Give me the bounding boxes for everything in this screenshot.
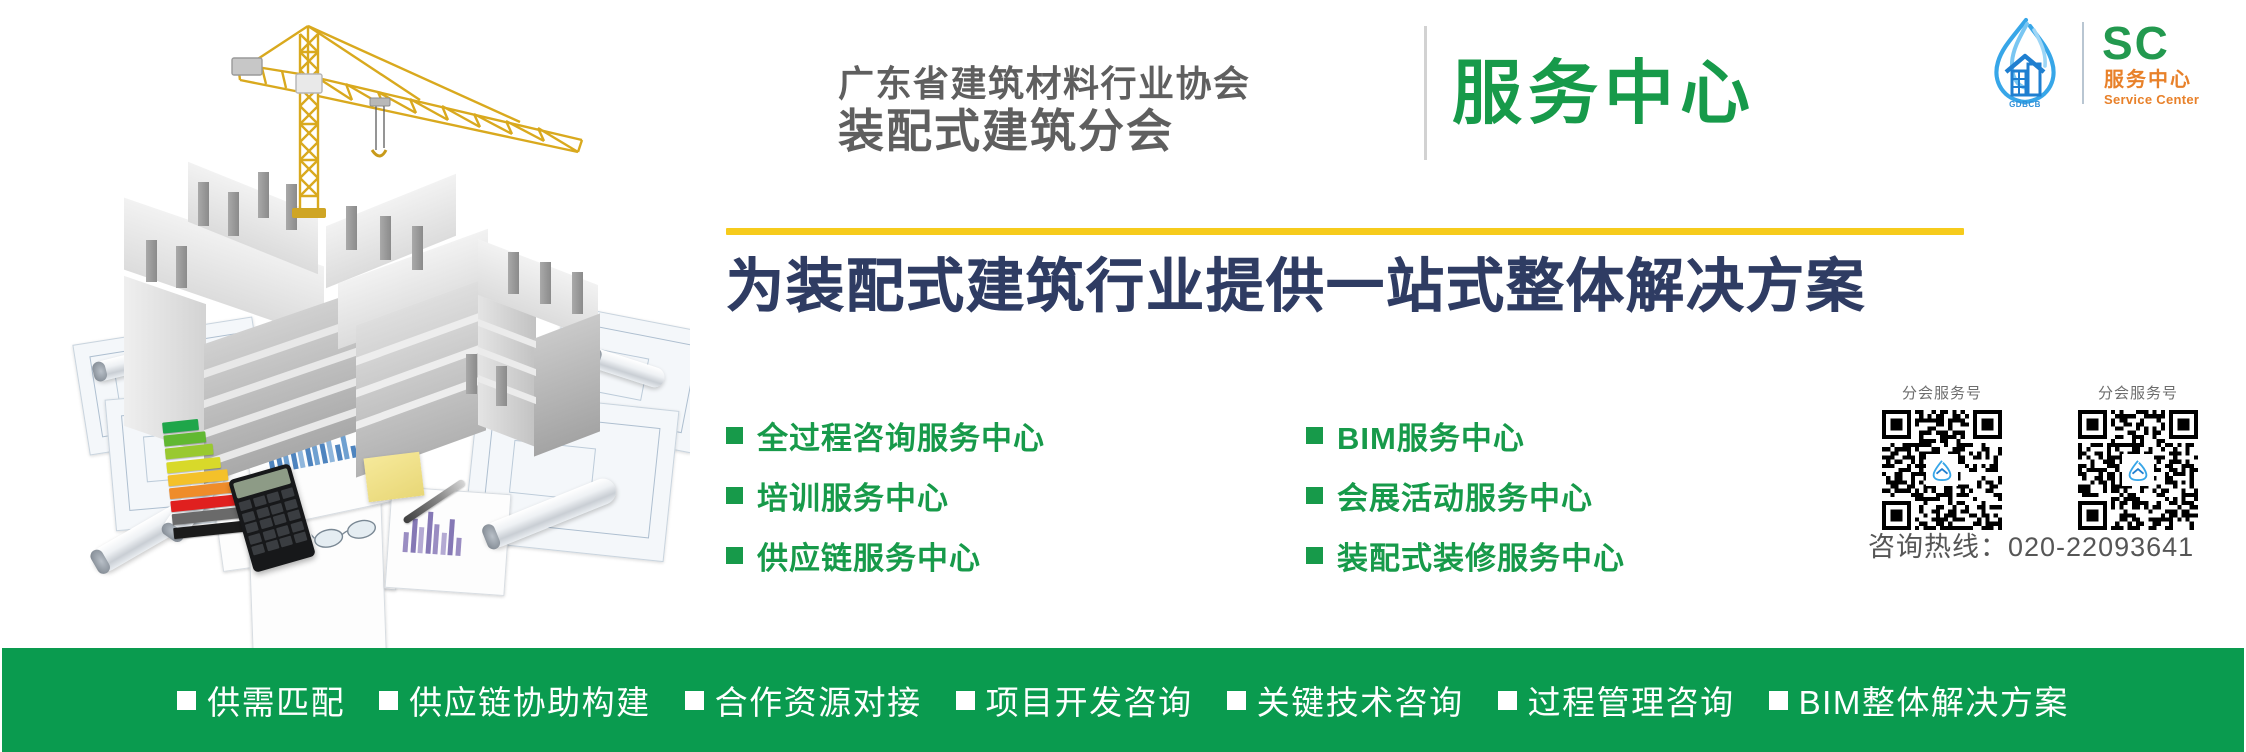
square-bullet-icon <box>726 487 743 504</box>
square-bullet-icon <box>177 691 196 710</box>
capability-tag[interactable]: BIM整体解决方案 <box>1769 676 2069 724</box>
association-name-line1: 广东省建筑材料行业协会 <box>838 66 1418 102</box>
capability-tag[interactable]: 合作资源对接 <box>685 676 922 724</box>
qr-code-block: 分会服务号 <box>1862 382 2022 530</box>
logo-caption: GDBCB <box>1982 100 2068 109</box>
association-name: 广东省建筑材料行业协会 装配式建筑分会 <box>838 66 1418 154</box>
construction-site-illustration <box>0 0 690 648</box>
service-item[interactable]: 培训服务中心 <box>726 465 1045 525</box>
square-bullet-icon <box>1306 427 1323 444</box>
service-item[interactable]: 会展活动服务中心 <box>1306 465 1625 525</box>
service-list-left: 全过程咨询服务中心 培训服务中心 供应链服务中心 <box>726 405 1045 585</box>
square-bullet-icon <box>726 427 743 444</box>
qr-center-logo-icon <box>1926 454 1958 486</box>
capability-tag-label: 合作资源对接 <box>715 676 922 724</box>
sc-chinese-label: 服务中心 <box>2104 70 2192 90</box>
gdbcb-flame-house-logo-icon <box>1982 14 2068 114</box>
service-center-title: 服务中心 <box>1452 58 1756 128</box>
capability-tag-label: 项目开发咨询 <box>986 676 1193 724</box>
sticky-note <box>364 452 425 502</box>
qr-center-logo-icon <box>2122 454 2154 486</box>
capability-tag-label: 供应链协助构建 <box>409 676 651 724</box>
capability-tag-list: 供需匹配 供应链协助构建 合作资源对接 项目开发咨询 关键技术咨询 过程管理咨询 <box>177 676 2069 724</box>
service-item-label: 供应链服务中心 <box>757 533 981 578</box>
service-item[interactable]: BIM服务中心 <box>1306 405 1625 465</box>
capability-tag[interactable]: 供需匹配 <box>177 676 345 724</box>
square-bullet-icon <box>379 691 398 710</box>
qr-code-image[interactable] <box>1882 410 2002 530</box>
qr-caption: 分会服务号 <box>2058 382 2218 403</box>
capability-tag[interactable]: 供应链协助构建 <box>379 676 651 724</box>
service-list-right: BIM服务中心 会展活动服务中心 装配式装修服务中心 <box>1306 405 1625 585</box>
tagline: 为装配式建筑行业提供一站式整体解决方案 <box>726 258 1866 316</box>
square-bullet-icon <box>1306 487 1323 504</box>
bottom-capability-bar: 供需匹配 供应链协助构建 合作资源对接 项目开发咨询 关键技术咨询 过程管理咨询 <box>2 648 2244 752</box>
capability-tag-label: 供需匹配 <box>207 676 345 724</box>
square-bullet-icon <box>956 691 975 710</box>
calculator-keys <box>238 487 307 555</box>
capability-tag[interactable]: 关键技术咨询 <box>1227 676 1464 724</box>
service-item[interactable]: 全过程咨询服务中心 <box>726 405 1045 465</box>
tower-crane-icon <box>0 0 690 648</box>
service-item-label: 全过程咨询服务中心 <box>757 413 1045 458</box>
brand-logo-block: GDBCB SC 服务中心 Service Center <box>1982 14 2228 114</box>
sc-english-label: Service Center <box>2104 93 2199 106</box>
service-item-label: 会展活动服务中心 <box>1337 473 1593 518</box>
service-item-label: BIM服务中心 <box>1337 413 1525 458</box>
square-bullet-icon <box>1227 691 1246 710</box>
capability-tag-label: 过程管理咨询 <box>1528 676 1735 724</box>
capability-tag-label: BIM整体解决方案 <box>1799 676 2069 724</box>
qr-code-block: 分会服务号 <box>2058 382 2218 530</box>
promotional-banner: 广东省建筑材料行业协会 装配式建筑分会 服务中心 为装配式建筑行业提供一站式整体… <box>0 0 2246 752</box>
square-bullet-icon <box>1769 691 1788 710</box>
gold-divider-rule <box>726 228 1964 235</box>
vertical-divider <box>1424 26 1427 160</box>
association-name-line2: 装配式建筑分会 <box>838 108 1418 154</box>
capability-tag[interactable]: 过程管理咨询 <box>1498 676 1735 724</box>
hotline-text: 咨询热线：020-22093641 <box>1868 525 2238 564</box>
service-item-label: 培训服务中心 <box>757 473 949 518</box>
service-item[interactable]: 装配式装修服务中心 <box>1306 525 1625 585</box>
square-bullet-icon <box>685 691 704 710</box>
capability-tag-label: 关键技术咨询 <box>1257 676 1464 724</box>
service-item-label: 装配式装修服务中心 <box>1337 533 1625 578</box>
square-bullet-icon <box>726 547 743 564</box>
qr-caption: 分会服务号 <box>1862 382 2022 403</box>
sc-initials: SC <box>2102 20 2170 66</box>
square-bullet-icon <box>1498 691 1517 710</box>
service-item[interactable]: 供应链服务中心 <box>726 525 1045 585</box>
square-bullet-icon <box>1306 547 1323 564</box>
qr-code-image[interactable] <box>2078 410 2198 530</box>
capability-tag[interactable]: 项目开发咨询 <box>956 676 1193 724</box>
logo-divider <box>2082 22 2084 104</box>
